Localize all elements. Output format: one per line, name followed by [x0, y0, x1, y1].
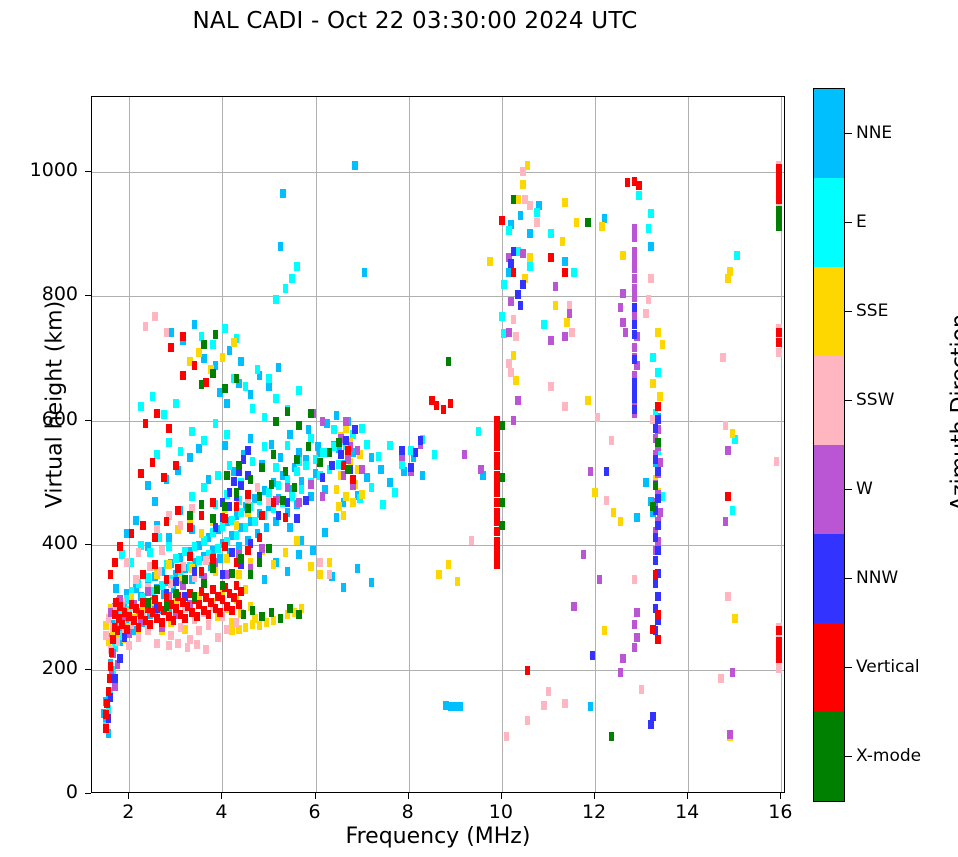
echo-marker [362, 268, 368, 277]
echo-marker [220, 581, 226, 590]
echo-marker [734, 251, 740, 260]
echo-marker [392, 488, 398, 497]
echo-marker [725, 446, 731, 455]
echo-marker [343, 417, 349, 426]
echo-marker [224, 625, 230, 634]
echo-marker [257, 533, 263, 542]
echo-marker [527, 253, 533, 262]
echo-marker [103, 631, 109, 640]
echo-marker [138, 469, 144, 478]
y-tick-label: 400 [8, 532, 78, 554]
echo-marker [643, 478, 649, 487]
colorbar-label: Azimuth Direction [948, 253, 958, 573]
colorbar-label-x-mode: X-mode [856, 746, 921, 766]
echo-marker [229, 569, 235, 578]
echo-marker [527, 201, 533, 210]
echo-marker [776, 348, 782, 357]
echo-marker [548, 382, 554, 391]
echo-marker [732, 614, 738, 623]
echo-marker [520, 180, 526, 189]
echo-marker [210, 340, 216, 349]
echo-marker [623, 328, 629, 337]
echo-marker [201, 579, 207, 588]
echo-marker [632, 378, 638, 387]
echo-marker [546, 687, 552, 696]
echo-marker [562, 402, 568, 411]
echo-marker [513, 332, 519, 341]
echo-marker [154, 585, 160, 594]
echo-marker [634, 633, 640, 642]
echo-marker [564, 318, 570, 327]
echo-marker [632, 575, 638, 584]
plot-area [91, 96, 785, 793]
echo-marker [215, 544, 221, 553]
echo-marker [203, 556, 209, 565]
echo-marker [725, 492, 731, 501]
echo-marker [320, 473, 326, 482]
echo-marker [359, 490, 365, 499]
echo-marker [109, 648, 115, 657]
echo-marker [655, 415, 661, 424]
echo-marker [632, 264, 638, 273]
echo-marker [359, 424, 365, 433]
echo-marker [329, 461, 335, 470]
echo-marker [140, 570, 146, 579]
y-tick [85, 295, 91, 296]
echo-marker [145, 481, 151, 490]
echo-marker [278, 453, 284, 462]
echo-marker [446, 357, 452, 366]
y-tick-label: 0 [8, 781, 78, 803]
echo-marker [457, 702, 463, 711]
echo-marker [278, 614, 284, 623]
echo-marker [303, 461, 309, 470]
figure-title: NAL CADI - Oct 22 03:30:00 2024 UTC [0, 8, 830, 34]
echo-marker [222, 384, 228, 393]
echo-marker [296, 550, 302, 559]
echo-marker [296, 498, 302, 507]
y-tick-label: 800 [8, 283, 78, 305]
echo-marker [187, 552, 193, 561]
echo-marker [730, 429, 736, 438]
colorbar-segment-vertical [814, 623, 844, 712]
echo-marker [655, 635, 661, 644]
echo-marker [499, 421, 505, 430]
echo-marker [259, 612, 265, 621]
echo-marker [243, 623, 249, 632]
echo-marker [620, 654, 626, 663]
y-tick-label: 1000 [8, 159, 78, 181]
echo-marker [308, 409, 314, 418]
echo-marker [215, 471, 221, 480]
echo-marker [660, 340, 666, 349]
echo-marker [650, 625, 656, 634]
echo-marker [369, 578, 375, 587]
echo-marker [262, 413, 268, 422]
echo-marker [112, 682, 118, 691]
echo-marker [317, 458, 323, 467]
echo-marker [499, 521, 505, 530]
echo-marker [171, 616, 177, 625]
echo-marker [194, 612, 200, 621]
echo-marker [285, 441, 291, 450]
echo-marker [432, 450, 438, 459]
echo-marker [420, 471, 426, 480]
echo-marker [234, 374, 240, 383]
echo-marker [655, 402, 661, 411]
echo-marker [508, 297, 514, 306]
echo-marker [308, 434, 314, 443]
echo-marker [515, 290, 521, 299]
echo-marker [236, 600, 242, 609]
echo-marker [776, 328, 782, 337]
echo-marker [592, 488, 598, 497]
echo-marker [620, 318, 626, 327]
echo-marker [285, 407, 291, 416]
ionogram-figure: NAL CADI - Oct 22 03:30:00 2024 UTC Freq… [0, 0, 958, 857]
echo-marker [657, 392, 663, 401]
echo-marker [294, 455, 300, 464]
echo-marker [320, 492, 326, 501]
echo-marker [255, 483, 261, 492]
echo-marker [276, 363, 282, 372]
echo-marker [625, 178, 631, 187]
echo-marker [408, 463, 414, 472]
echo-marker [571, 268, 577, 277]
echo-marker [469, 536, 475, 545]
echo-marker [618, 517, 624, 526]
echo-marker [152, 560, 158, 569]
echo-marker [653, 570, 659, 579]
echo-marker [553, 282, 559, 291]
colorbar-segment-nnw [814, 534, 844, 623]
x-tick [221, 793, 222, 799]
echo-marker [113, 584, 119, 593]
echo-marker [511, 268, 517, 277]
echo-marker [604, 496, 610, 505]
echo-marker [590, 651, 596, 660]
echo-marker [376, 452, 382, 461]
echo-marker [255, 365, 261, 374]
gridline-vertical [595, 97, 596, 792]
echo-marker [161, 410, 167, 419]
echo-marker [273, 394, 279, 403]
echo-marker [585, 218, 591, 227]
echo-marker [189, 492, 195, 501]
echo-marker [562, 257, 568, 266]
echo-marker [168, 631, 174, 640]
echo-marker [511, 247, 517, 256]
echo-marker [175, 506, 181, 515]
echo-marker [494, 461, 500, 470]
echo-marker [380, 500, 386, 509]
echo-marker [723, 517, 729, 526]
echo-marker [506, 328, 512, 337]
echo-marker [359, 465, 365, 474]
echo-marker [639, 685, 645, 694]
echo-marker [317, 558, 323, 567]
echo-marker [581, 550, 587, 559]
echo-marker [494, 488, 500, 497]
echo-marker [443, 701, 449, 710]
echo-marker [648, 242, 654, 251]
echo-marker [145, 587, 151, 596]
x-tick [128, 793, 129, 799]
echo-marker [213, 330, 219, 339]
gridline-horizontal [92, 421, 784, 422]
echo-marker [776, 172, 782, 181]
echo-marker [187, 511, 193, 520]
echo-marker [227, 488, 233, 497]
echo-marker [511, 315, 517, 324]
echo-marker [525, 666, 531, 675]
echo-marker [352, 425, 358, 434]
gridline-horizontal [92, 296, 784, 297]
echo-marker [650, 502, 656, 511]
echo-marker [271, 560, 277, 569]
colorbar-label-nne: NNE [856, 123, 892, 143]
colorbar-tick [845, 222, 852, 223]
colorbar-label-w: W [856, 479, 873, 499]
echo-marker [250, 606, 256, 615]
echo-marker [320, 417, 326, 426]
echo-marker [164, 602, 170, 611]
echo-marker [655, 546, 661, 555]
echo-marker [199, 529, 205, 538]
colorbar-tick [845, 489, 852, 490]
echo-marker [133, 516, 139, 525]
echo-marker [527, 229, 533, 238]
x-tick-label: 14 [652, 801, 722, 823]
colorbar-segment-ssw [814, 356, 844, 445]
echo-marker [196, 626, 202, 635]
echo-marker [776, 654, 782, 663]
echo-marker [653, 556, 659, 565]
echo-marker [462, 450, 468, 459]
echo-marker [611, 508, 617, 517]
echo-marker [494, 442, 500, 451]
echo-marker [541, 701, 547, 710]
echo-marker [602, 626, 608, 635]
echo-marker [609, 436, 615, 445]
echo-marker [273, 295, 279, 304]
echo-marker [334, 513, 340, 522]
echo-marker [248, 570, 254, 579]
echo-marker [150, 458, 156, 467]
echo-marker [271, 498, 277, 507]
echo-marker [180, 332, 186, 341]
echo-marker [345, 465, 351, 474]
echo-marker [234, 531, 240, 540]
echo-marker [632, 320, 638, 329]
gridline-vertical [688, 97, 689, 792]
gridline-vertical [502, 97, 503, 792]
echo-marker [250, 404, 256, 413]
echo-marker [571, 602, 577, 611]
echo-marker [192, 542, 198, 551]
echo-marker [513, 376, 519, 385]
echo-marker [562, 268, 568, 277]
echo-marker [222, 441, 228, 450]
echo-marker [243, 523, 249, 532]
echo-marker [317, 570, 323, 579]
echo-marker [154, 639, 160, 648]
echo-marker [446, 560, 452, 569]
echo-marker [632, 394, 638, 403]
gridline-vertical [409, 97, 410, 792]
colorbar-segment-x-mode [814, 712, 844, 801]
echo-marker [296, 610, 302, 619]
echo-marker [178, 521, 184, 530]
echo-marker [264, 523, 270, 532]
echo-marker [107, 674, 113, 683]
x-tick [780, 793, 781, 799]
echo-marker [194, 640, 200, 649]
echo-marker [112, 558, 118, 567]
echo-marker [283, 467, 289, 476]
echo-marker [299, 485, 305, 494]
echo-marker [727, 730, 733, 739]
echo-marker [213, 419, 219, 428]
echo-marker [166, 424, 172, 433]
echo-marker [327, 448, 333, 457]
x-tick-label: 2 [93, 801, 163, 823]
echo-marker [220, 353, 226, 362]
echo-marker [515, 396, 521, 405]
echo-marker [126, 641, 132, 650]
colorbar-segment-e [814, 178, 844, 267]
colorbar-label-nnw: NNW [856, 568, 898, 588]
echo-marker [599, 222, 605, 231]
echo-marker [294, 262, 300, 271]
echo-marker [632, 643, 638, 652]
colorbar-label-ssw: SSW [856, 390, 894, 410]
echo-marker [350, 475, 356, 484]
echo-marker [224, 430, 230, 439]
echo-marker [166, 438, 172, 447]
echo-marker [494, 434, 500, 443]
echo-marker [152, 312, 158, 321]
echo-marker [632, 303, 638, 312]
echo-marker [525, 716, 531, 725]
echo-marker [269, 440, 275, 449]
colorbar-segment-sse [814, 267, 844, 356]
echo-marker [283, 513, 289, 522]
echo-marker [334, 411, 340, 420]
echo-marker [285, 567, 291, 576]
echo-marker [266, 382, 272, 391]
echo-marker [166, 533, 172, 542]
echo-marker [210, 554, 216, 563]
echo-marker [210, 369, 216, 378]
echo-marker [234, 618, 240, 627]
echo-marker [506, 226, 512, 235]
echo-marker [124, 625, 130, 634]
echo-marker [164, 328, 170, 337]
echo-marker [518, 301, 524, 310]
echo-marker [303, 496, 309, 505]
x-tick-label: 4 [186, 801, 256, 823]
echo-marker [192, 567, 198, 576]
echo-marker [147, 620, 153, 629]
echo-marker [259, 511, 265, 520]
echo-marker [448, 399, 454, 408]
echo-marker [199, 380, 205, 389]
x-tick-label: 6 [280, 801, 350, 823]
echo-marker [534, 218, 540, 227]
echo-marker [262, 575, 268, 584]
echo-marker [220, 570, 226, 579]
echo-marker [508, 368, 514, 377]
echo-marker [192, 361, 198, 370]
echo-marker [257, 558, 263, 567]
echo-marker [147, 548, 153, 557]
gridline-horizontal [92, 172, 784, 173]
echo-marker [182, 614, 188, 623]
echo-marker [548, 253, 554, 262]
echo-marker [487, 257, 493, 266]
echo-marker [499, 312, 505, 321]
echo-marker [292, 483, 298, 492]
echo-marker [730, 506, 736, 515]
echo-marker [320, 448, 326, 457]
echo-marker [308, 480, 314, 489]
echo-marker [774, 457, 780, 466]
echo-marker [150, 392, 156, 401]
echo-marker [180, 371, 186, 380]
echo-marker [413, 448, 419, 457]
echo-marker [210, 564, 216, 573]
echo-marker [632, 355, 638, 364]
echo-marker [653, 424, 659, 433]
echo-marker [653, 481, 659, 490]
echo-marker [273, 463, 279, 472]
echo-marker [494, 452, 500, 461]
colorbar-label-e: E [856, 212, 867, 232]
gridline-horizontal [92, 670, 784, 671]
echo-marker [245, 504, 251, 513]
echo-marker [355, 446, 361, 455]
echo-marker [327, 570, 333, 579]
echo-marker [287, 523, 293, 532]
echo-marker [192, 320, 198, 329]
echo-marker [352, 161, 358, 170]
echo-marker [597, 575, 603, 584]
colorbar-tick [845, 400, 852, 401]
echo-marker [588, 467, 594, 476]
colorbar [813, 88, 845, 802]
echo-marker [213, 523, 219, 532]
echo-marker [588, 702, 594, 711]
echo-marker [618, 668, 624, 677]
echo-marker [632, 620, 638, 629]
echo-marker [269, 608, 275, 617]
y-tick-label: 200 [8, 657, 78, 679]
echo-marker [273, 417, 279, 426]
echo-marker [646, 224, 652, 233]
echo-marker [227, 461, 233, 470]
echo-marker [310, 546, 316, 555]
echo-marker [618, 303, 624, 312]
echo-marker [231, 338, 237, 347]
echo-marker [308, 562, 314, 571]
echo-marker [185, 643, 191, 652]
echo-marker [166, 542, 172, 551]
echo-marker [548, 229, 554, 238]
echo-marker [217, 608, 223, 617]
echo-marker [632, 274, 638, 283]
echo-marker [241, 610, 247, 619]
